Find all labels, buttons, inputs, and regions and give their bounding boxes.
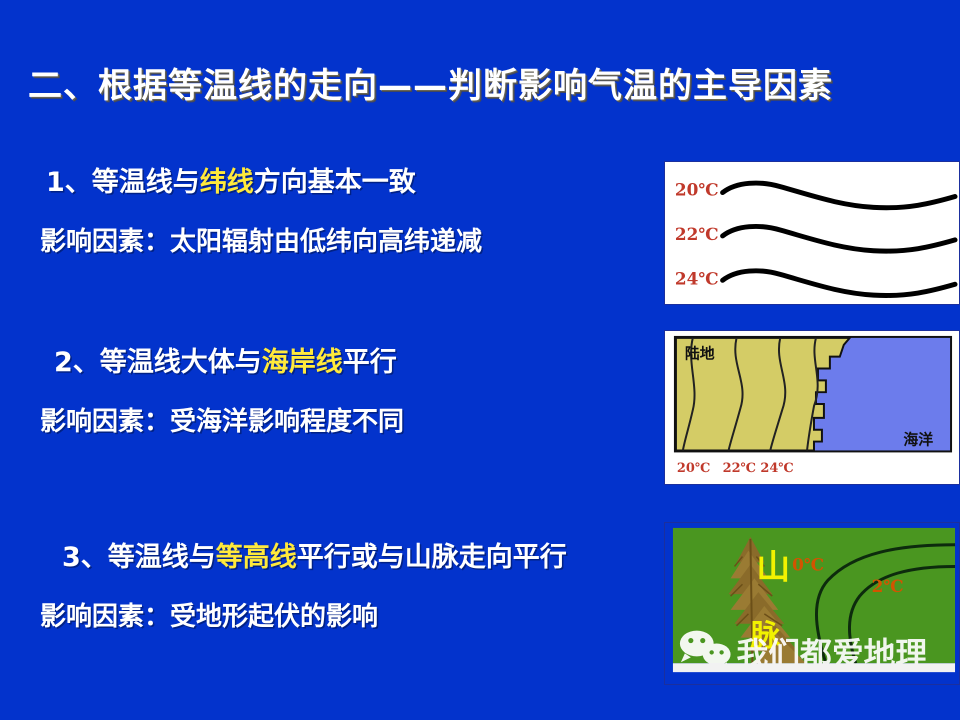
figure-1-label-20c: 20℃ — [675, 180, 719, 200]
bullet-1-subtext: 影响因素：太阳辐射由低纬向高纬递减 — [0, 221, 660, 258]
figure-coastline-isotherms: 陆地 海洋 20℃ 22℃ 24℃ — [664, 330, 960, 485]
bullet-3-text-before: 等温线与 — [108, 542, 216, 573]
bullet-3-subtext: 影响因素：受地形起伏的影响 — [0, 596, 660, 633]
figure-2-svg: 陆地 海洋 20℃ 22℃ 24℃ — [665, 331, 959, 484]
bullet-2-heading: 2、等温线大体与海岸线平行 — [0, 340, 660, 379]
figure-latitude-isotherms: 20℃ 22℃ 24℃ — [664, 161, 960, 305]
figure-2-label-24c: 24℃ — [760, 461, 793, 476]
bullet-1-text-before: 等温线与 — [92, 167, 200, 198]
bullet-3-number: 3、 — [62, 542, 108, 573]
bullet-point-2: 2、等温线大体与海岸线平行 影响因素：受海洋影响程度不同 — [0, 340, 660, 438]
bullet-3-highlight: 等高线 — [216, 542, 297, 573]
figure-3-bottom-strip — [673, 663, 955, 672]
figure-mountain-isotherms: 山 脉 0℃ 2℃ 我们都爱地理 — [664, 522, 960, 685]
bullet-2-text-after: 平行 — [343, 347, 397, 378]
figure-2-map-panel: 陆地 海洋 — [675, 337, 951, 452]
content-text-column: 1、等温线与纬线方向基本一致 影响因素：太阳辐射由低纬向高纬递减 2、等温线大体… — [0, 150, 660, 710]
figure-1-svg: 20℃ 22℃ 24℃ — [665, 162, 959, 304]
figure-1-label-24c: 24℃ — [675, 268, 719, 288]
figure-3-mountain-label-top: 山 — [756, 547, 790, 586]
figure-3-svg: 山 脉 0℃ 2℃ 我们都爱地理 — [665, 523, 959, 684]
figure-2-label-20c: 20℃ — [677, 461, 710, 476]
bullet-2-text-before: 等温线大体与 — [100, 347, 262, 378]
bullet-3-heading: 3、等温线与等高线平行或与山脉走向平行 — [0, 535, 660, 574]
bullet-1-number: 1、 — [46, 167, 92, 198]
figure-3-label-0c: 0℃ — [792, 554, 824, 574]
figure-3-label-2c: 2℃ — [872, 576, 904, 596]
bullet-point-3: 3、等温线与等高线平行或与山脉走向平行 影响因素：受地形起伏的影响 — [0, 535, 660, 633]
bullet-2-number: 2、 — [54, 347, 100, 378]
figure-2-land-label: 陆地 — [685, 345, 715, 363]
figure-2-ocean-label: 海洋 — [903, 431, 933, 449]
figure-1-label-22c: 22℃ — [675, 224, 719, 244]
bullet-3-text-after: 平行或与山脉走向平行 — [297, 542, 567, 573]
slide-canvas: 二、根据等温线的走向——判断影响气温的主导因素 1、等温线与纬线方向基本一致 影… — [0, 0, 960, 720]
bullet-1-text-after: 方向基本一致 — [254, 167, 416, 198]
bullet-2-highlight: 海岸线 — [262, 347, 343, 378]
bullet-1-highlight: 纬线 — [200, 167, 254, 198]
page-title: 二、根据等温线的走向——判断影响气温的主导因素 — [28, 58, 932, 107]
figure-2-label-22c: 22℃ — [723, 461, 756, 476]
bullet-2-subtext: 影响因素：受海洋影响程度不同 — [0, 401, 660, 438]
bullet-point-1: 1、等温线与纬线方向基本一致 影响因素：太阳辐射由低纬向高纬递减 — [0, 160, 660, 258]
bullet-1-heading: 1、等温线与纬线方向基本一致 — [0, 160, 660, 199]
